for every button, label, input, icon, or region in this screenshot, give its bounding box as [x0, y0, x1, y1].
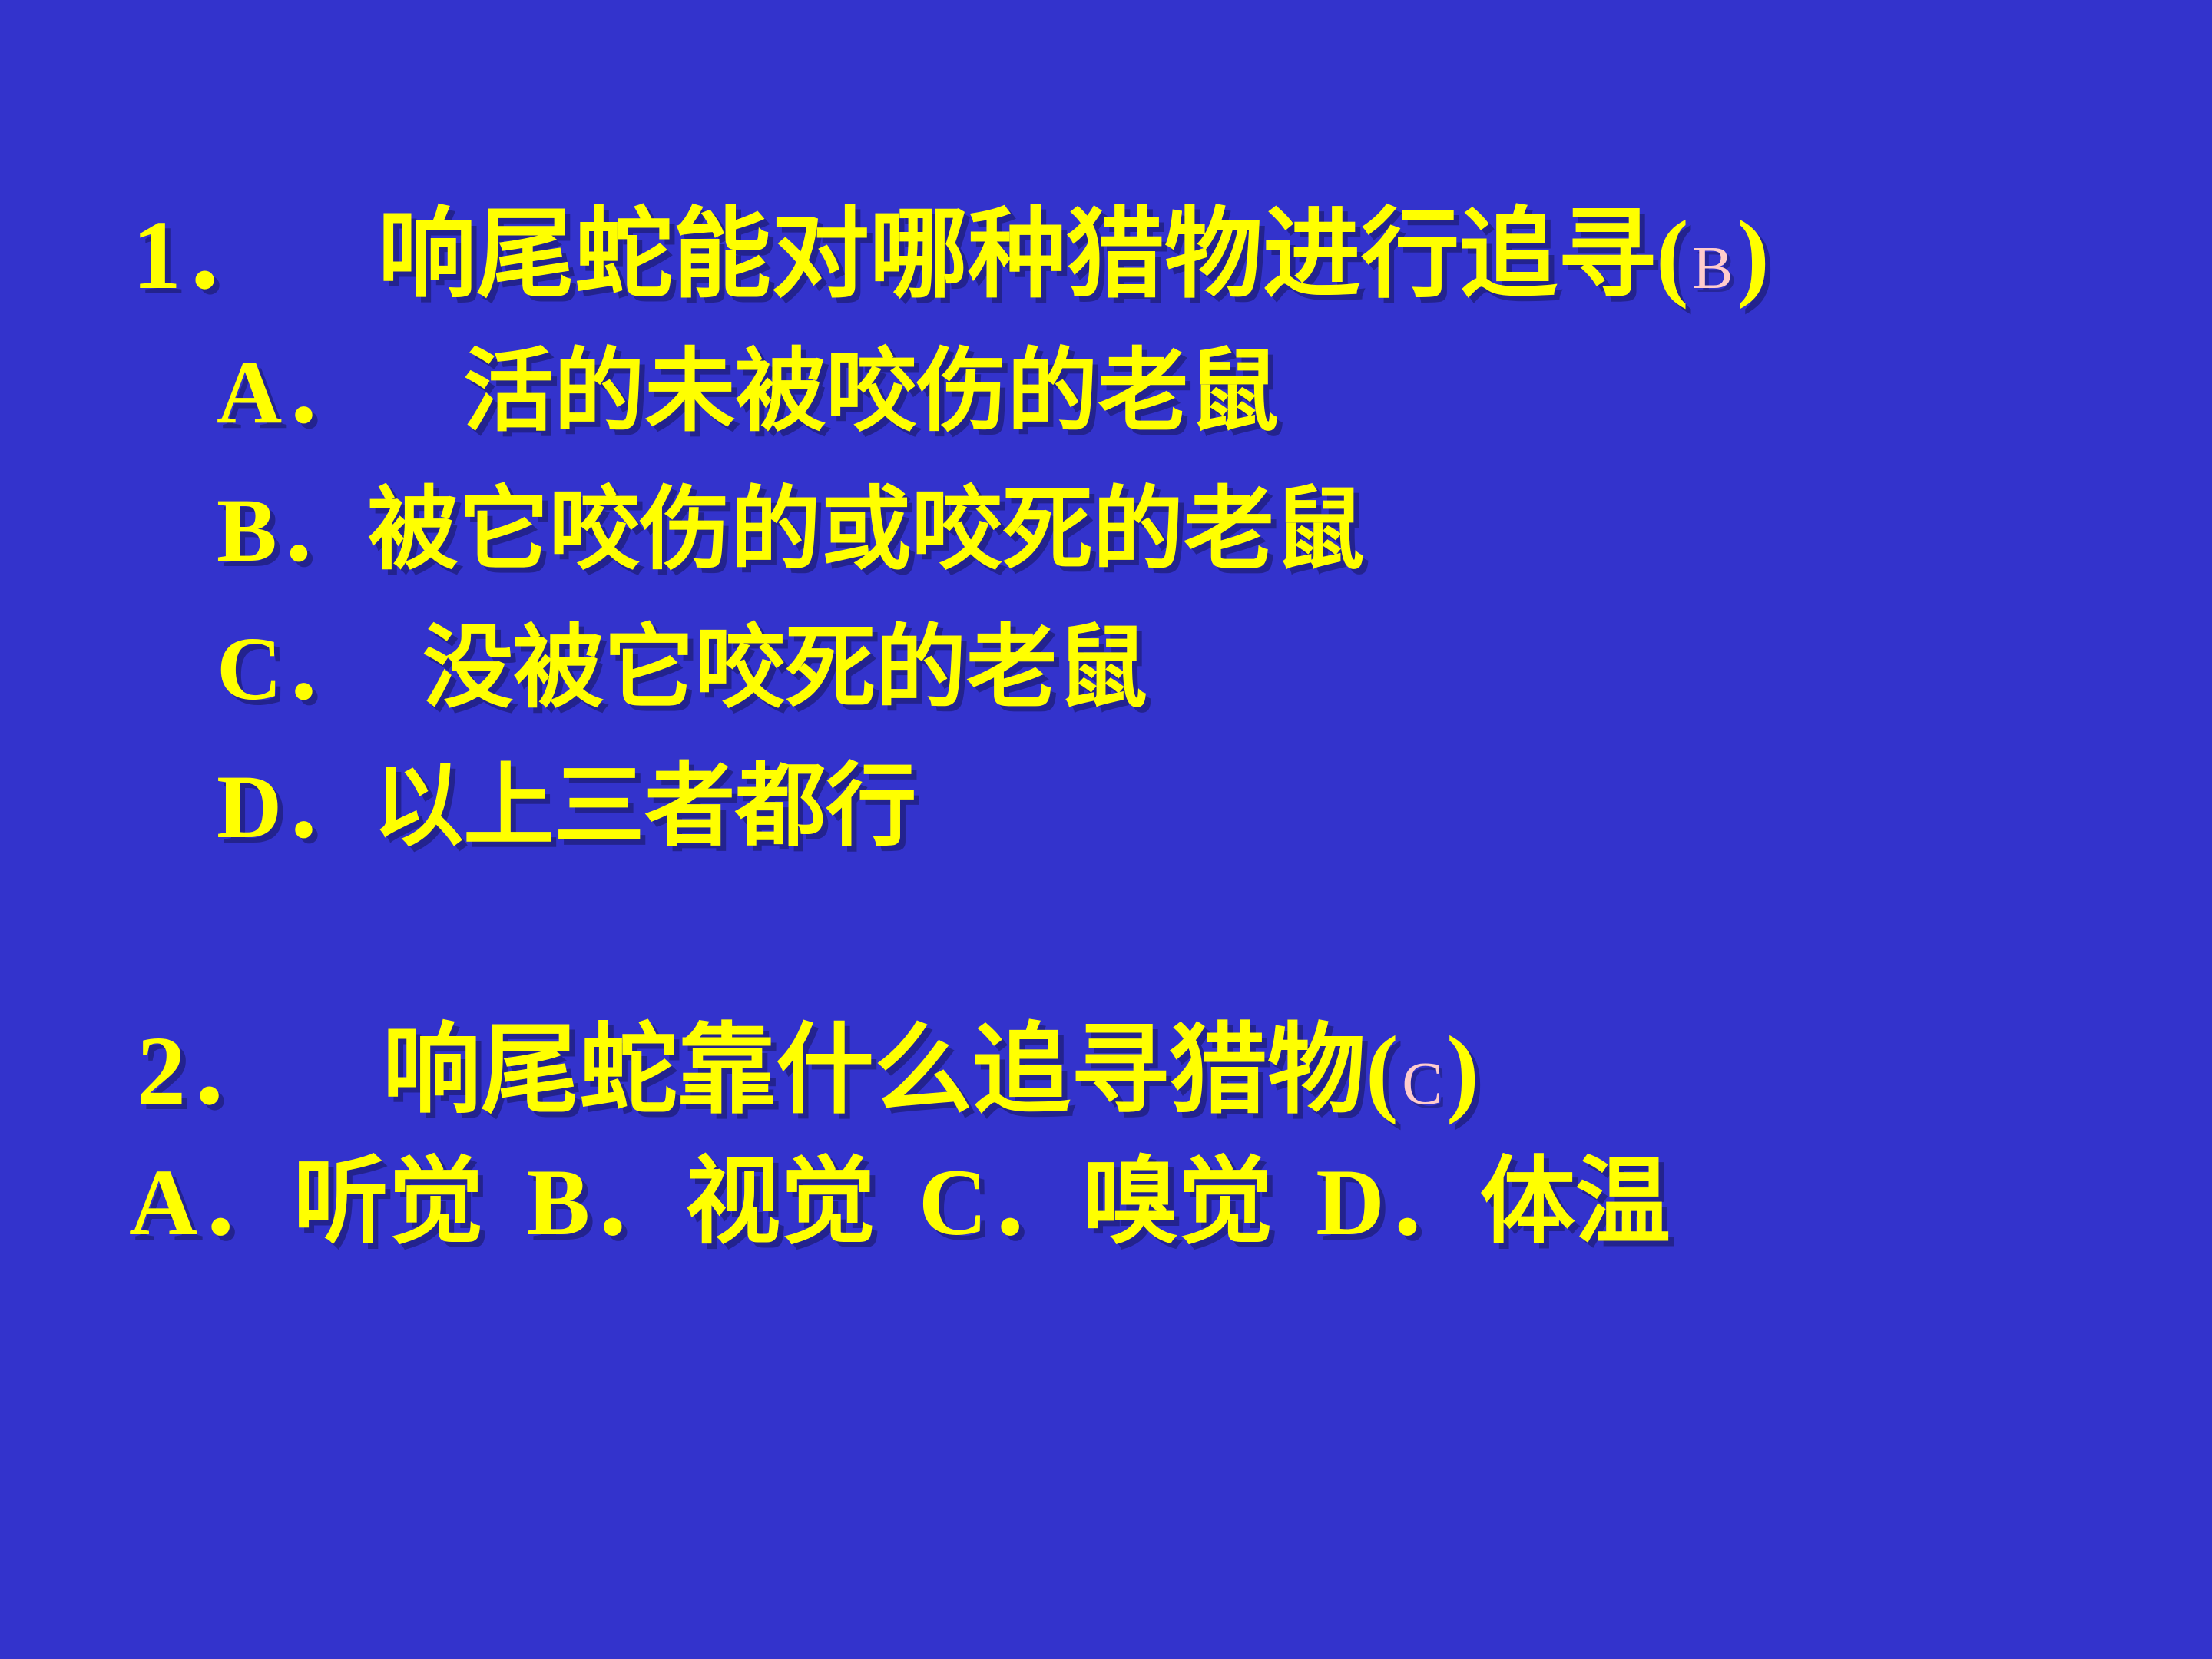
q2-option-a-text: 听觉: [293, 1150, 484, 1255]
question-1-option-c: C．没被它咬死的老鼠: [217, 624, 1147, 714]
option-d-letter: D．: [217, 757, 373, 857]
question-1-open-paren: (: [1656, 200, 1689, 310]
question-2-number: 2．: [137, 1016, 284, 1125]
option-a-letter: A．: [217, 342, 373, 442]
question-1-text: 响尾蛇能对哪种猎物进行追寻: [378, 200, 1656, 310]
q2-option-b-letter: B．: [526, 1150, 685, 1255]
question-2-answer: C: [1399, 1050, 1446, 1118]
question-2-close-paren: ): [1446, 1016, 1479, 1125]
option-c-text: 没被它咬死的老鼠: [422, 618, 1147, 719]
question-1-option-d: D．以上三者都行: [217, 762, 916, 853]
question-1-option-b: B．被它咬伤的或咬死的老鼠: [217, 485, 1365, 576]
slide-canvas: 1．响尾蛇能对哪种猎物进行追寻(B) A．活的未被咬伤的老鼠 B．被它咬伤的或咬…: [0, 0, 2212, 1659]
option-d-text: 以上三者都行: [373, 757, 916, 857]
question-1-number: 1．: [132, 200, 280, 310]
question-1-stem: 1．响尾蛇能对哪种猎物进行追寻(B): [132, 206, 1770, 304]
option-c-letter: C．: [217, 618, 373, 719]
question-1-close-paren: ): [1737, 200, 1770, 310]
q2-option-d-letter: D．: [1316, 1150, 1480, 1255]
option-a-text: 活的未被咬伤的老鼠: [463, 342, 1279, 442]
q2-option-c-text: 嗅觉: [1082, 1150, 1273, 1255]
question-2-options: A．听觉B．视觉C．嗅觉D．体温: [129, 1155, 1671, 1250]
q2-option-c-letter: C．: [919, 1150, 1083, 1255]
q2-option-b-text: 视觉: [685, 1150, 876, 1255]
q2-option-d-text: 体温: [1480, 1150, 1671, 1255]
option-b-text: 被它咬伤的或咬死的老鼠: [368, 480, 1365, 581]
question-1-answer: B: [1689, 234, 1737, 302]
question-2-text: 响尾蛇靠什么追寻猎物: [382, 1016, 1366, 1125]
q2-option-a-letter: A．: [129, 1150, 293, 1255]
option-b-letter: B．: [217, 480, 368, 581]
question-2-open-paren: (: [1366, 1016, 1399, 1125]
question-1-option-a: A．活的未被咬伤的老鼠: [217, 347, 1279, 438]
question-2-stem: 2．响尾蛇靠什么追寻猎物(C): [137, 1022, 1479, 1120]
